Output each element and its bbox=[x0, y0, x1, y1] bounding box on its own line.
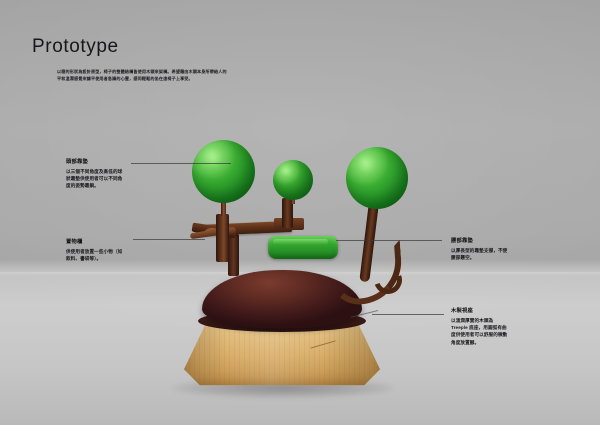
callout-storage-shelf-body: 供使用者放置一些小物（如飲料、書袋等）。 bbox=[66, 248, 126, 262]
callout-storage-shelf: 置物櫃 供使用者放置一些小物（如飲料、書袋等）。 bbox=[66, 237, 126, 262]
callout-head-rest-body: 以三個不同角度及高低的球狀靠墊供使用者可以不同角度的姿勢靠躺。 bbox=[66, 168, 124, 190]
treeple-chair-render bbox=[178, 138, 428, 378]
callout-lumbar-rest-heading: 腰部靠墊 bbox=[451, 236, 509, 244]
leader-line-lumbar-rest bbox=[336, 240, 442, 241]
callout-lumbar-rest: 腰部靠墊 以厚長型的靠墊支撐，不使腰部懸空。 bbox=[451, 236, 509, 261]
callout-wooden-base: 木製視座 以溫潤厚實的木頭為 Treeple 底座，用圓弧有曲度供使用者可以舒服… bbox=[451, 306, 509, 346]
intro-paragraph: 以樹的形狀為設計原型，椅子的整體結構皆使用木頭來架構。希望藉由木頭本身所帶給人的… bbox=[57, 69, 227, 82]
callout-storage-shelf-heading: 置物櫃 bbox=[66, 237, 126, 245]
head-sphere-middle bbox=[273, 160, 313, 200]
presentation-slide: Prototype 以樹的形狀為設計原型，椅子的整體結構皆使用木頭來架構。希望藉… bbox=[0, 0, 600, 425]
callout-wooden-base-body: 以溫潤厚實的木頭為 Treeple 底座，用圓弧有曲度供使用者可以舒服的微動角度… bbox=[451, 317, 509, 346]
head-sphere-right bbox=[346, 147, 408, 209]
leader-line-storage-shelf bbox=[133, 239, 205, 240]
leader-line-wooden-base bbox=[372, 314, 444, 315]
callout-wooden-base-heading: 木製視座 bbox=[451, 306, 509, 314]
callout-head-rest: 頭部靠墊 以三個不同角度及高低的球狀靠墊供使用者可以不同角度的姿勢靠躺。 bbox=[66, 157, 124, 190]
callout-head-rest-heading: 頭部靠墊 bbox=[66, 157, 124, 165]
arm-post-lower bbox=[228, 234, 239, 276]
page-title: Prototype bbox=[32, 36, 119, 58]
callout-lumbar-rest-body: 以厚長型的靠墊支撐，不使腰部懸空。 bbox=[451, 247, 509, 261]
leader-line-head-rest bbox=[131, 163, 231, 164]
head-sphere-left bbox=[192, 140, 255, 203]
arm-post-upper bbox=[216, 214, 229, 262]
lumbar-cushion bbox=[268, 236, 338, 259]
